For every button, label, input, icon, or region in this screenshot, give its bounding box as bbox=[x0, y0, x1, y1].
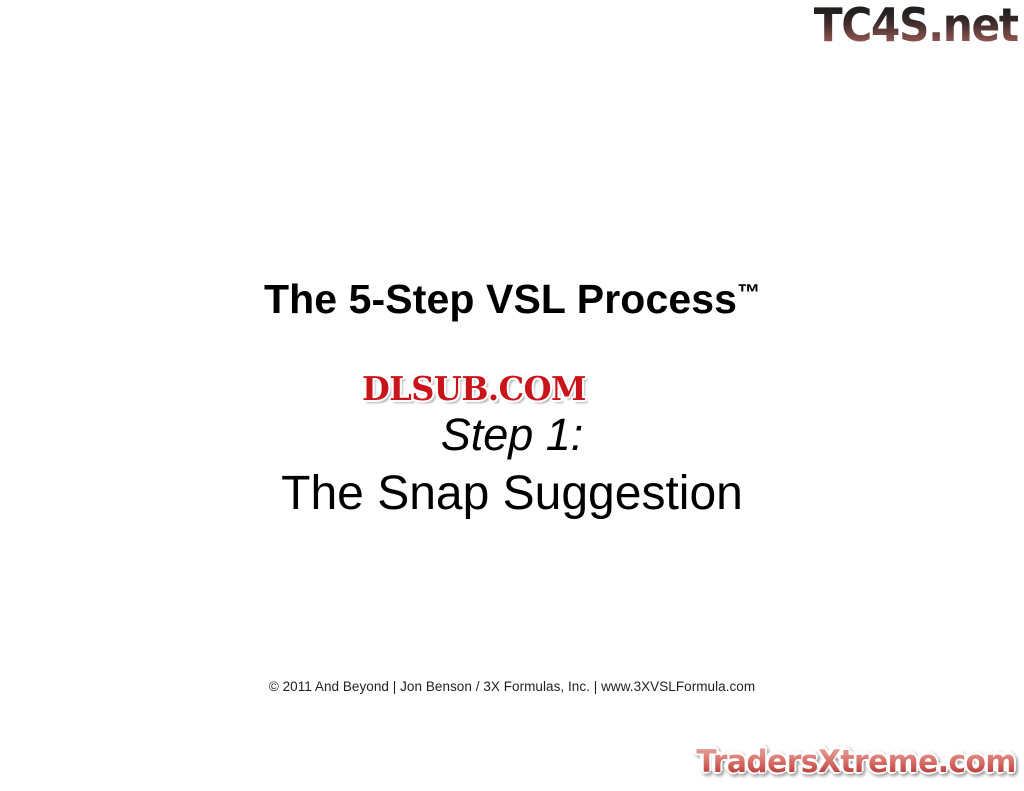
step-label: Step 1: bbox=[0, 408, 1024, 463]
copyright-credit-line: © 2011 And Beyond | Jon Benson / 3X Form… bbox=[0, 679, 1024, 694]
title-main-text: The 5-Step VSL Process bbox=[264, 276, 737, 322]
subtitle-block: Step 1: The Snap Suggestion bbox=[0, 408, 1024, 523]
slide-canvas: TC4S.net The 5-Step VSL Process™ DLSUB.C… bbox=[0, 0, 1024, 791]
trademark-symbol: ™ bbox=[737, 279, 760, 305]
dlsub-watermark: DLSUB.COM bbox=[362, 371, 586, 408]
step-name: The Snap Suggestion bbox=[0, 465, 1024, 524]
title-text: The 5-Step VSL Process™ bbox=[264, 278, 760, 321]
tradersxtreme-watermark: TradersXtreme.com bbox=[696, 745, 1016, 779]
tc4s-logo: TC4S.net bbox=[814, 2, 1018, 48]
page-title: The 5-Step VSL Process™ bbox=[0, 278, 1024, 321]
